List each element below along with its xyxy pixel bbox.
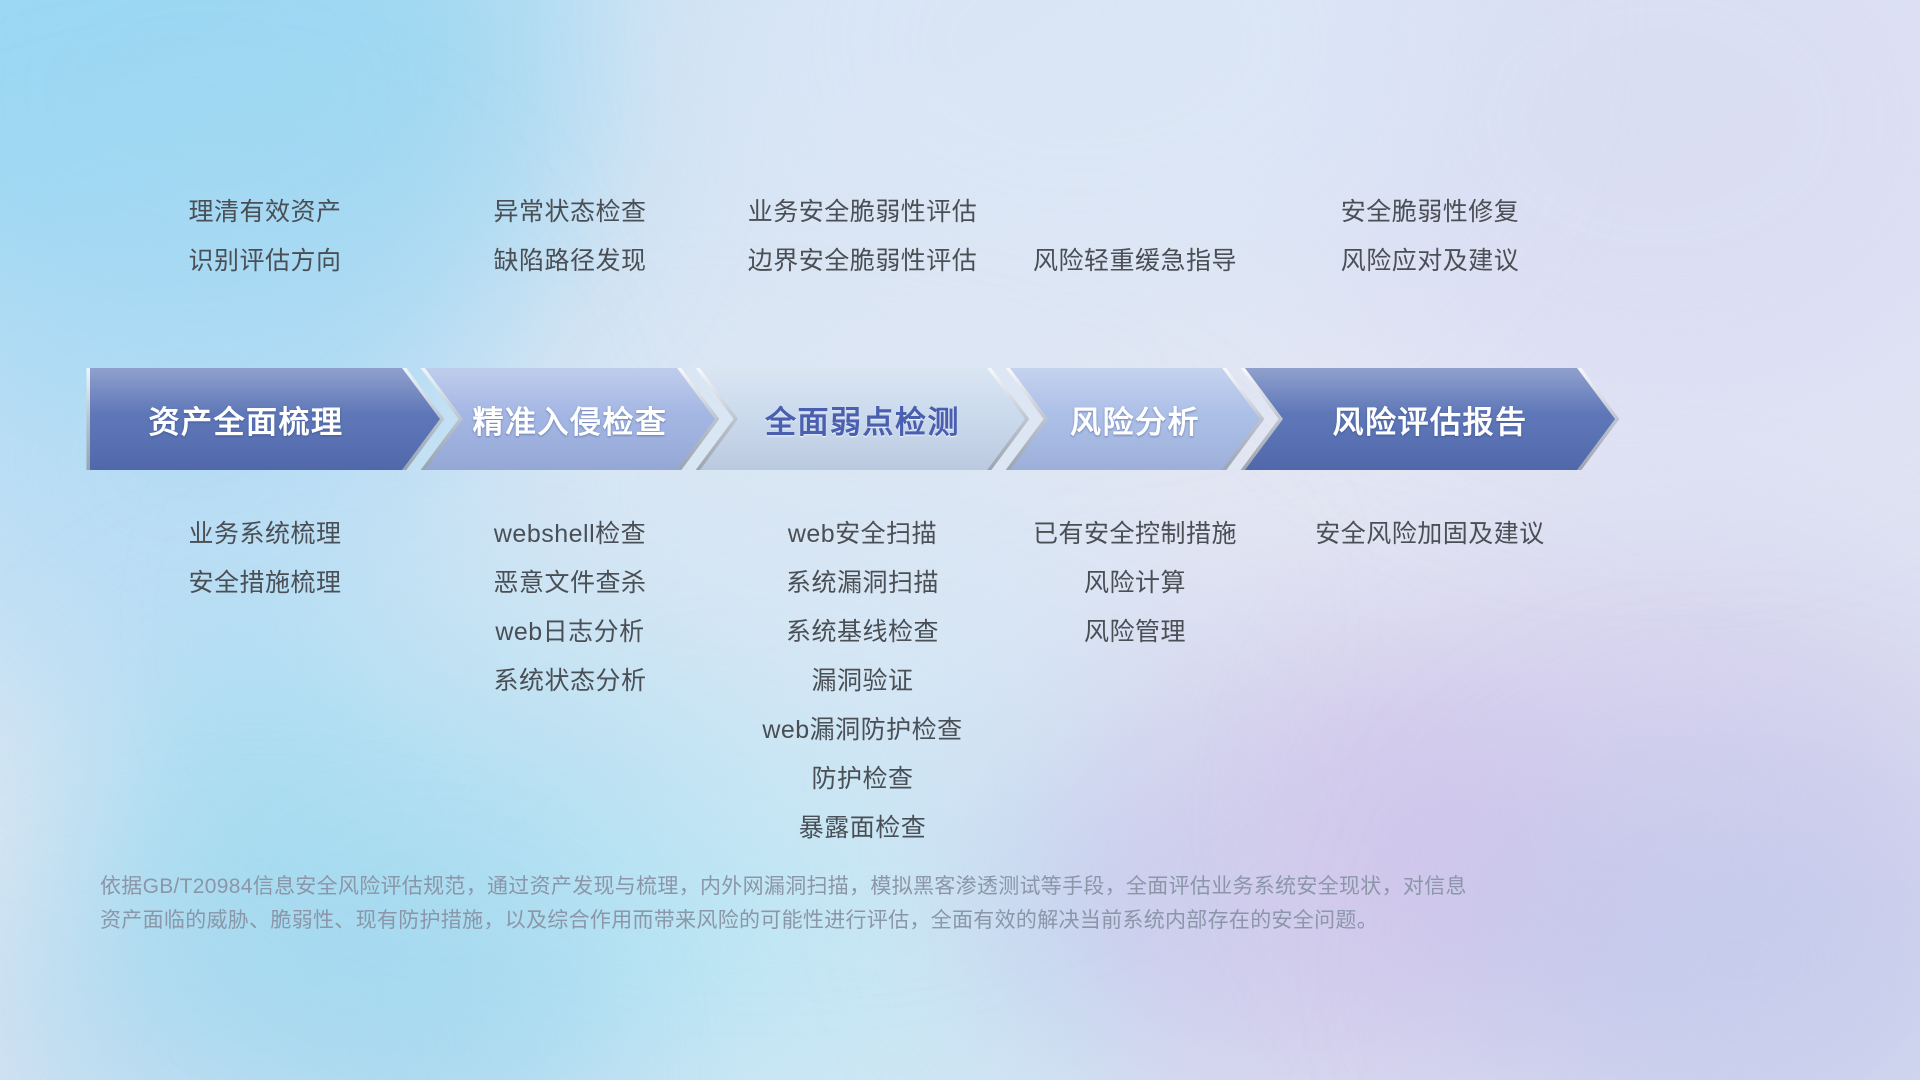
bottom-caption-item: 业务系统梳理 xyxy=(188,510,341,559)
bottom-caption-item: web漏洞防护检查 xyxy=(762,706,962,755)
bottom-caption-item: 已有安全控制措施 xyxy=(1033,510,1237,559)
bottom-caption-item: webshell检查 xyxy=(494,510,646,559)
arrow-gloss xyxy=(1245,368,1615,470)
top-caption-item: 识别评估方向 xyxy=(188,237,341,286)
bottom-caption-item: web安全扫描 xyxy=(788,510,937,559)
top-caption-row: 理清有效资产识别评估方向异常状态检查缺陷路径发现业务安全脆弱性评估边界安全脆弱性… xyxy=(0,176,1920,286)
top-caption-item: 风险轻重缓急指导 xyxy=(1033,237,1237,286)
top-captions-risk-report: 安全脆弱性修复风险应对及建议 xyxy=(1230,188,1630,286)
process-arrow-band xyxy=(0,368,1920,470)
bottom-captions-risk-report: 安全风险加固及建议 xyxy=(1230,510,1630,559)
bottom-caption-item: 防护检查 xyxy=(811,755,913,804)
process-diagram: 理清有效资产识别评估方向异常状态检查缺陷路径发现业务安全脆弱性评估边界安全脆弱性… xyxy=(0,0,1920,1080)
bottom-caption-item: 安全风险加固及建议 xyxy=(1315,510,1545,559)
footer-description: 依据GB/T20984信息安全风险评估规范，通过资产发现与梳理，内外网漏洞扫描，… xyxy=(100,870,1620,938)
bottom-caption-item: 系统漏洞扫描 xyxy=(786,559,939,608)
arrow-gloss xyxy=(425,368,715,470)
top-caption-item: 缺陷路径发现 xyxy=(493,237,646,286)
bottom-caption-item: 风险计算 xyxy=(1084,559,1186,608)
footer-line-2: 资产面临的威胁、脆弱性、现有防护措施，以及综合作用而带来风险的可能性进行评估，全… xyxy=(100,904,1620,938)
bottom-caption-item: 风险管理 xyxy=(1084,608,1186,657)
top-caption-item: 异常状态检查 xyxy=(493,188,646,237)
bottom-caption-item: 漏洞验证 xyxy=(811,657,913,706)
bottom-caption-item: 系统状态分析 xyxy=(493,657,646,706)
top-caption-item: 理清有效资产 xyxy=(188,188,341,237)
bottom-caption-item: 系统基线检查 xyxy=(786,608,939,657)
arrow-gloss xyxy=(700,368,1025,470)
arrow-band-svg xyxy=(0,368,1920,470)
arrow-gloss xyxy=(90,368,440,470)
bottom-caption-item: web日志分析 xyxy=(495,608,644,657)
bottom-caption-item: 恶意文件查杀 xyxy=(493,559,646,608)
top-caption-item: 业务安全脆弱性评估 xyxy=(748,188,978,237)
footer-line-1: 依据GB/T20984信息安全风险评估规范，通过资产发现与梳理，内外网漏洞扫描，… xyxy=(100,870,1620,904)
bottom-caption-item: 安全措施梳理 xyxy=(188,559,341,608)
bottom-caption-item: 暴露面检查 xyxy=(799,804,927,853)
top-caption-item: 风险应对及建议 xyxy=(1341,237,1520,286)
top-caption-item: 安全脆弱性修复 xyxy=(1341,188,1520,237)
